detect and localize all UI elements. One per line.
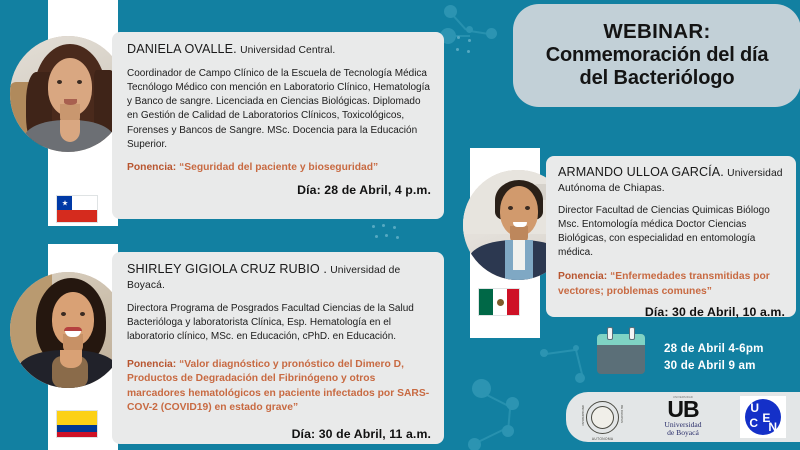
logo-bar: UNIVERSIDAD DE CHIAPAS AUTONOMA UNIVERSI… bbox=[566, 392, 800, 442]
speaker-bio: Coordinador de Campo Clínico de la Escue… bbox=[127, 67, 431, 152]
speaker-date: Día: 28 de Abril, 4 p.m. bbox=[127, 183, 431, 197]
ucen-logo: U C E N bbox=[740, 396, 786, 438]
portrait-shirley-gigiola-cruz-rubio bbox=[10, 272, 126, 388]
title-line-1: WEBINAR: bbox=[603, 20, 710, 44]
calendar-icon bbox=[597, 327, 645, 375]
ponencia-row: Ponencia: “Seguridad del paciente y bios… bbox=[127, 161, 431, 175]
speaker-name: ARMANDO ULLOA GARCÍA. bbox=[558, 165, 724, 179]
speaker-name-row: SHIRLEY GIGIOLA CRUZ RUBIO . Universidad… bbox=[127, 262, 431, 293]
title-line-2: Conmemoración del día bbox=[546, 44, 769, 67]
speaker-name-row: ARMANDO ULLOA GARCÍA. Universidad Autóno… bbox=[558, 165, 785, 196]
ponencia-label: Ponencia: bbox=[127, 359, 176, 370]
speaker-bio: Director Facultad de Ciencias Quimicas B… bbox=[558, 204, 785, 261]
ponencia-title: “Seguridad del paciente y bioseguridad” bbox=[179, 162, 378, 173]
speaker-university: Universidad Central. bbox=[240, 45, 335, 56]
universidad-de-boyaca-logo: UNIVERSIDAD UB Universidad de Boyacá bbox=[653, 396, 713, 438]
speaker-name: SHIRLEY GIGIOLA CRUZ RUBIO . bbox=[127, 262, 327, 276]
mexico-flag bbox=[478, 288, 520, 316]
dot-pattern-decoration-2 bbox=[455, 35, 495, 65]
speaker-card-shirley-gigiola-cruz-rubio: SHIRLEY GIGIOLA CRUZ RUBIO . Universidad… bbox=[112, 252, 444, 444]
chile-flag bbox=[56, 195, 98, 223]
ub-monogram: UB bbox=[667, 399, 698, 421]
ponencia-row: Ponencia: “Enfermedades transmitidas por… bbox=[558, 270, 785, 298]
ucen-letter-c: C bbox=[749, 417, 758, 429]
webinar-title-pill: WEBINAR: Conmemoración del día del Bacte… bbox=[513, 4, 800, 107]
speaker-date: Día: 30 de Abril, 10 a.m. bbox=[558, 305, 785, 319]
title-line-3: del Bacteriólogo bbox=[579, 67, 734, 90]
universidad-autonoma-seal: UNIVERSIDAD DE CHIAPAS AUTONOMA bbox=[580, 397, 626, 437]
speaker-name: DANIELA OVALLE. bbox=[127, 42, 237, 56]
portrait-daniela-ovalle bbox=[10, 36, 126, 152]
schedule-summary: 28 de Abril 4-6pm 30 de Abril 9 am bbox=[664, 340, 800, 375]
schedule-line-2: 30 de Abril 9 am bbox=[664, 357, 800, 374]
ucen-letter-n: N bbox=[768, 421, 777, 433]
ponencia-label: Ponencia: bbox=[127, 162, 176, 173]
webinar-poster: DANIELA OVALLE. Universidad Central. Coo… bbox=[0, 0, 800, 450]
colombia-flag bbox=[56, 410, 98, 438]
ub-line-2: de Boyacá bbox=[667, 429, 699, 437]
speaker-bio: Directora Programa de Posgrados Facultad… bbox=[127, 302, 431, 345]
schedule-line-1: 28 de Abril 4-6pm bbox=[664, 340, 800, 357]
ponencia-row: Ponencia: “Valor diagnóstico y pronóstic… bbox=[127, 358, 431, 415]
speaker-card-daniela-ovalle: DANIELA OVALLE. Universidad Central. Coo… bbox=[112, 32, 444, 219]
speaker-name-row: DANIELA OVALLE. Universidad Central. bbox=[127, 42, 431, 58]
speaker-date: Día: 30 de Abril, 11 a.m. bbox=[127, 427, 431, 441]
ponencia-label: Ponencia: bbox=[558, 271, 607, 282]
seal-label: AUTONOMA bbox=[587, 437, 618, 441]
speaker-card-armando-ulloa-garcia: ARMANDO ULLOA GARCÍA. Universidad Autóno… bbox=[546, 156, 796, 317]
ucen-letter-u: U bbox=[750, 402, 759, 414]
